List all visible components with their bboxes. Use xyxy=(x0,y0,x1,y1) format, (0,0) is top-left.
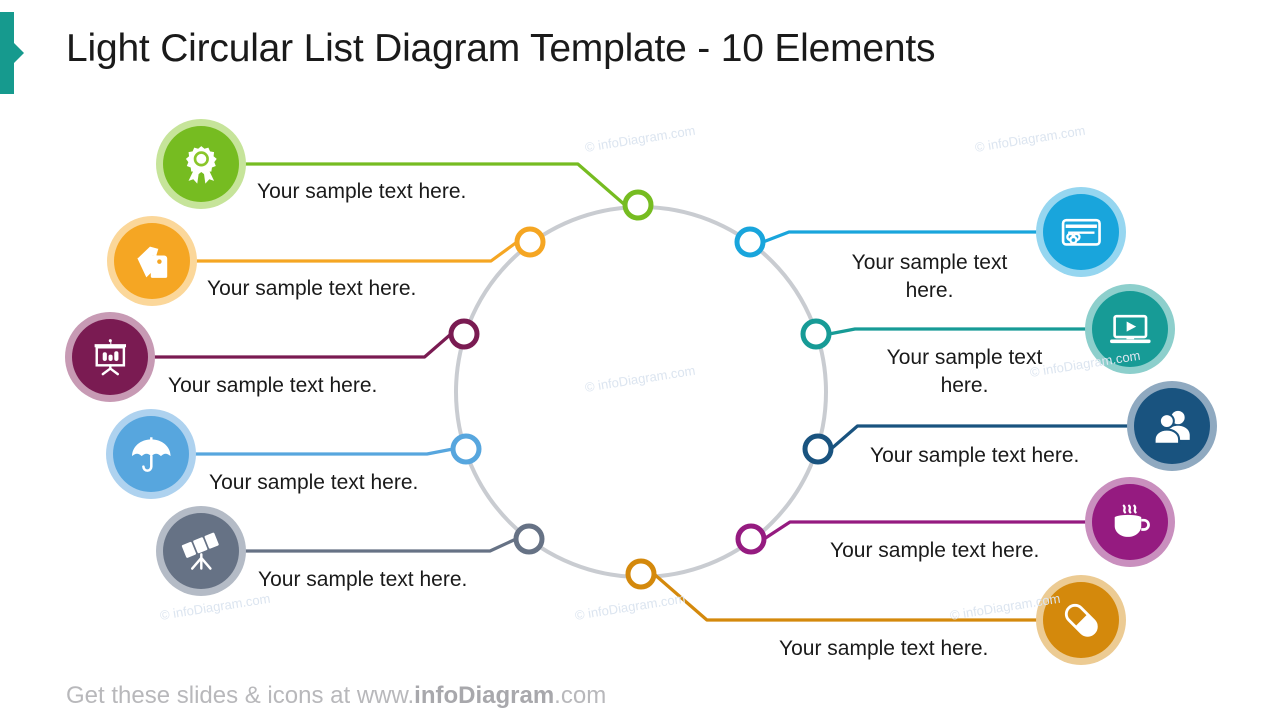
price-tags-icon[interactable] xyxy=(114,223,190,299)
footer-credit: Get these slides & icons at www.infoDiag… xyxy=(66,682,606,710)
item-label-10: Your sample text here. xyxy=(779,635,1059,663)
connector-line-10 xyxy=(654,574,1036,620)
connector-line-3 xyxy=(155,334,451,357)
item-label-9: Your sample text here. xyxy=(830,537,1110,565)
connector-node-2[interactable] xyxy=(517,229,543,255)
item-label-3: Your sample text here. xyxy=(168,372,448,400)
footer-prefix: Get these slides & icons at www. xyxy=(66,682,414,709)
item-label-6: Your sample text here. xyxy=(828,249,1031,304)
connector-node-7[interactable] xyxy=(803,321,829,347)
connector-line-4 xyxy=(196,449,453,454)
connector-node-8[interactable] xyxy=(805,436,831,462)
connector-node-10[interactable] xyxy=(628,561,654,587)
connector-nodes xyxy=(451,192,831,587)
connector-node-9[interactable] xyxy=(738,526,764,552)
connector-line-7 xyxy=(829,329,1085,334)
item-label-5: Your sample text here. xyxy=(258,566,538,594)
connector-node-4[interactable] xyxy=(453,436,479,462)
item-label-1: Your sample text here. xyxy=(257,178,517,206)
solar-panel-icon[interactable] xyxy=(163,513,239,589)
umbrella-icon[interactable] xyxy=(113,416,189,492)
connector-node-6[interactable] xyxy=(737,229,763,255)
center-circle xyxy=(456,207,826,577)
award-ribbon-icon[interactable] xyxy=(163,126,239,202)
slide-canvas: Light Circular List Diagram Template - 1… xyxy=(0,0,1280,720)
connector-line-2 xyxy=(197,242,517,261)
connector-node-3[interactable] xyxy=(451,321,477,347)
item-label-2: Your sample text here. xyxy=(207,275,487,303)
presentation-chart-icon[interactable] xyxy=(72,319,148,395)
credit-card-icon[interactable] xyxy=(1043,194,1119,270)
footer-brand: infoDiagram xyxy=(414,682,554,709)
center-circle-outline xyxy=(456,207,826,577)
connector-node-1[interactable] xyxy=(625,192,651,218)
item-label-8: Your sample text here. xyxy=(870,442,1150,470)
laptop-video-icon[interactable] xyxy=(1092,291,1168,367)
connector-line-6 xyxy=(763,232,1036,242)
connector-node-5[interactable] xyxy=(516,526,542,552)
item-label-7: Your sample text here. xyxy=(862,344,1067,399)
connector-line-5 xyxy=(246,539,516,551)
footer-suffix: .com xyxy=(554,682,606,709)
item-label-4: Your sample text here. xyxy=(209,469,489,497)
